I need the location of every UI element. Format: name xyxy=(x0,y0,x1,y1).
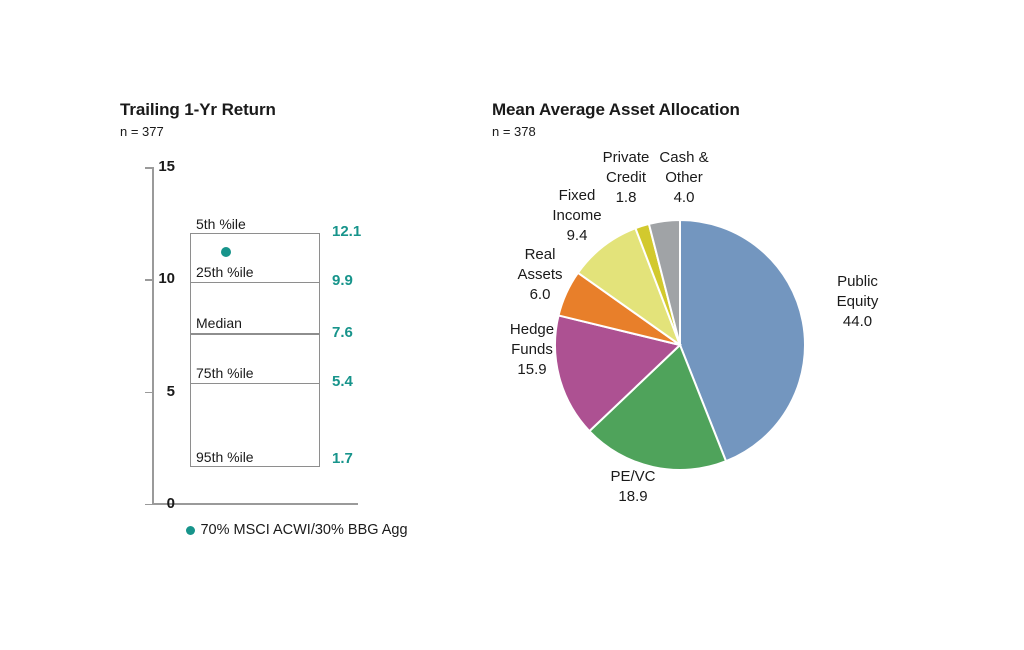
box-label-median: Median xyxy=(196,315,242,331)
benchmark-dot xyxy=(221,247,231,257)
y-tick-label-0: 0 xyxy=(135,495,175,512)
legend-dot-icon xyxy=(186,526,195,535)
pie-label-cash-other: Cash & Other 4.0 xyxy=(644,148,724,207)
pie-label-real-assets: Real Assets 6.0 xyxy=(500,245,580,304)
boxplot-plot-area: 15 10 5 0 5th %ile 25th %ile Median 75th… xyxy=(120,162,460,562)
boxplot-legend: 70% MSCI ACWI/30% BBG Agg xyxy=(152,522,442,538)
pie-label-public-equity: Public Equity 44.0 xyxy=(810,272,905,331)
trailing-return-chart: Trailing 1-Yr Return n = 377 15 10 5 0 5… xyxy=(120,100,460,560)
y-axis-line xyxy=(152,167,154,504)
box-label-p95: 95th %ile xyxy=(196,449,254,465)
boxplot-subtitle: n = 377 xyxy=(120,124,460,139)
box-value-p25: 9.9 xyxy=(332,272,353,289)
box-value-p5: 12.1 xyxy=(332,223,361,240)
y-tick-label-10: 10 xyxy=(135,270,175,287)
box-divider-median xyxy=(190,333,320,335)
box-label-p75: 75th %ile xyxy=(196,365,254,381)
asset-allocation-chart: Mean Average Asset Allocation n = 378 Pu… xyxy=(492,100,992,560)
box-value-p95: 1.7 xyxy=(332,450,353,467)
boxplot-title: Trailing 1-Yr Return xyxy=(120,100,460,120)
pie-label-hedge-funds: Hedge Funds 15.9 xyxy=(490,320,574,379)
y-tick-label-15: 15 xyxy=(135,158,175,175)
box-label-p25: 25th %ile xyxy=(196,264,254,280)
x-axis-line xyxy=(152,503,358,505)
box-divider-p25 xyxy=(190,282,320,284)
pie-label-pe-vc: PE/VC 18.9 xyxy=(588,467,678,507)
legend-label: 70% MSCI ACWI/30% BBG Agg xyxy=(200,522,407,538)
box-divider-p75 xyxy=(190,383,320,385)
box-value-median: 7.6 xyxy=(332,324,353,341)
box-label-p5: 5th %ile xyxy=(196,216,246,232)
y-tick-label-5: 5 xyxy=(135,383,175,400)
box-value-p75: 5.4 xyxy=(332,373,353,390)
